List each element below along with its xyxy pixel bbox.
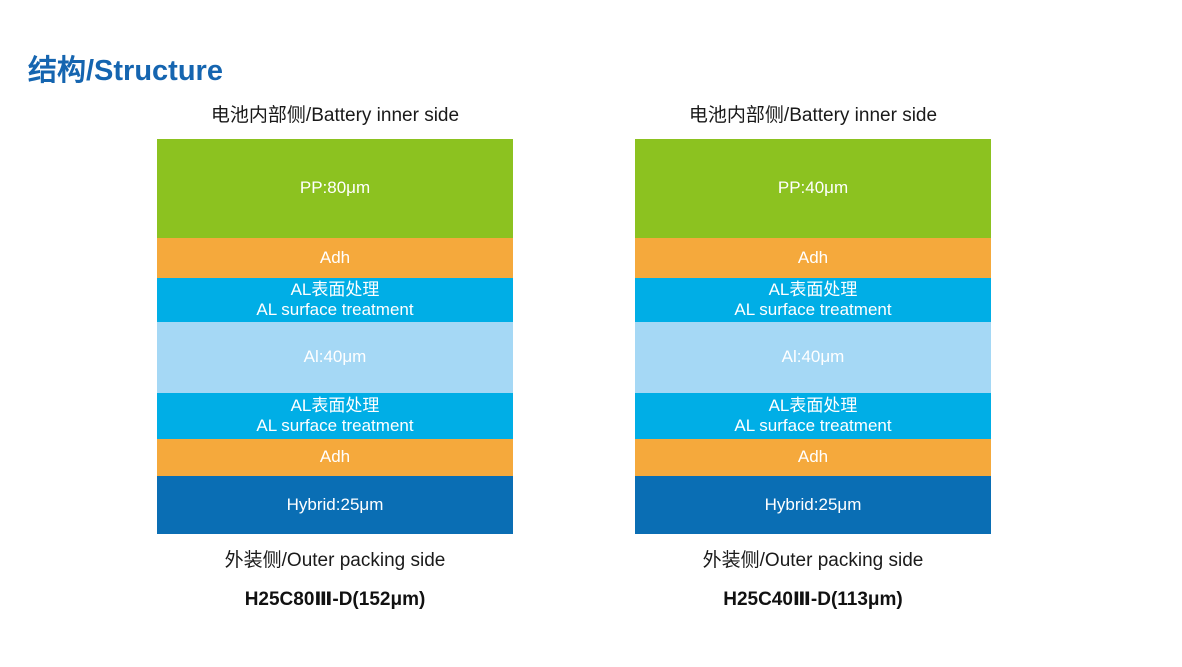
layer-al-surface-bot: AL表面处理AL surface treatment <box>635 393 991 439</box>
layer-label: Adh <box>320 248 350 268</box>
outer-packing-side-label: 外装侧/Outer packing side <box>157 545 513 572</box>
layer-al-core: Al:40μm <box>635 322 991 393</box>
page-title: 结构/Structure <box>28 47 223 89</box>
product-caption: H25C40Ⅲ-D(113μm) <box>635 588 991 611</box>
layer-label: Hybrid:25μm <box>287 495 384 515</box>
structure-diagram-h25c40: 电池内部侧/Battery inner side PP:40μmAdhAL表面处… <box>635 100 991 611</box>
layer-hybrid: Hybrid:25μm <box>157 476 513 534</box>
product-caption: H25C80Ⅲ-D(152μm) <box>157 588 513 611</box>
layer-al-surface-bot: AL表面处理AL surface treatment <box>157 393 513 439</box>
layer-label: PP:80μm <box>300 178 370 198</box>
layer-label: AL表面处理AL surface treatment <box>256 280 413 320</box>
layer-label: Al:40μm <box>782 347 845 367</box>
layer-adh-top: Adh <box>157 238 513 278</box>
battery-inner-side-label: 电池内部侧/Battery inner side <box>157 100 513 127</box>
layer-label: AL表面处理AL surface treatment <box>734 396 891 436</box>
layer-adh-bottom: Adh <box>635 439 991 476</box>
battery-inner-side-label: 电池内部侧/Battery inner side <box>635 100 991 127</box>
layer-adh-bottom: Adh <box>157 439 513 476</box>
layer-label: AL表面处理AL surface treatment <box>256 396 413 436</box>
layer-label: Adh <box>320 447 350 467</box>
layer-al-core: Al:40μm <box>157 322 513 393</box>
layer-stack: PP:80μmAdhAL表面处理AL surface treatmentAl:4… <box>157 139 513 534</box>
layer-stack: PP:40μmAdhAL表面处理AL surface treatmentAl:4… <box>635 139 991 534</box>
layer-hybrid: Hybrid:25μm <box>635 476 991 534</box>
layer-pp: PP:80μm <box>157 139 513 238</box>
layer-pp: PP:40μm <box>635 139 991 238</box>
layer-label: AL表面处理AL surface treatment <box>734 280 891 320</box>
layer-al-surface-top: AL表面处理AL surface treatment <box>635 278 991 322</box>
layer-label: Adh <box>798 248 828 268</box>
layer-adh-top: Adh <box>635 238 991 278</box>
layer-label: PP:40μm <box>778 178 848 198</box>
structure-diagram-h25c80: 电池内部侧/Battery inner side PP:80μmAdhAL表面处… <box>157 100 513 611</box>
layer-label: Hybrid:25μm <box>765 495 862 515</box>
layer-label: Adh <box>798 447 828 467</box>
layer-label: Al:40μm <box>304 347 367 367</box>
outer-packing-side-label: 外装侧/Outer packing side <box>635 545 991 572</box>
layer-al-surface-top: AL表面处理AL surface treatment <box>157 278 513 322</box>
